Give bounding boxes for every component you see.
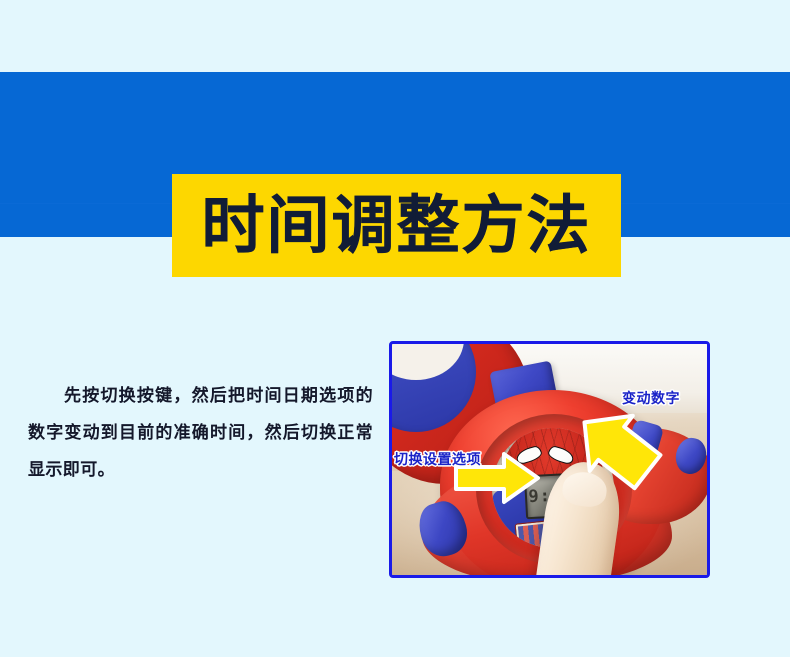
instruction-paragraph: 先按切换按键，然后把时间日期选项的数字变动到目前的准确时间，然后切换正常显示即可… [28,378,373,489]
instruction-photo: 9:24 切换设置选项 变动数字 [389,341,710,578]
title-banner: 时间调整方法 [0,72,790,237]
photo-scene: 9:24 切换设置选项 变动数字 [392,344,707,575]
callout-label-change-digits: 变动数字 [622,388,680,408]
page-title: 时间调整方法 [202,194,592,257]
callout-label-switch-setting-option: 切换设置选项 [394,449,481,469]
title-highlight-box: 时间调整方法 [172,174,621,277]
